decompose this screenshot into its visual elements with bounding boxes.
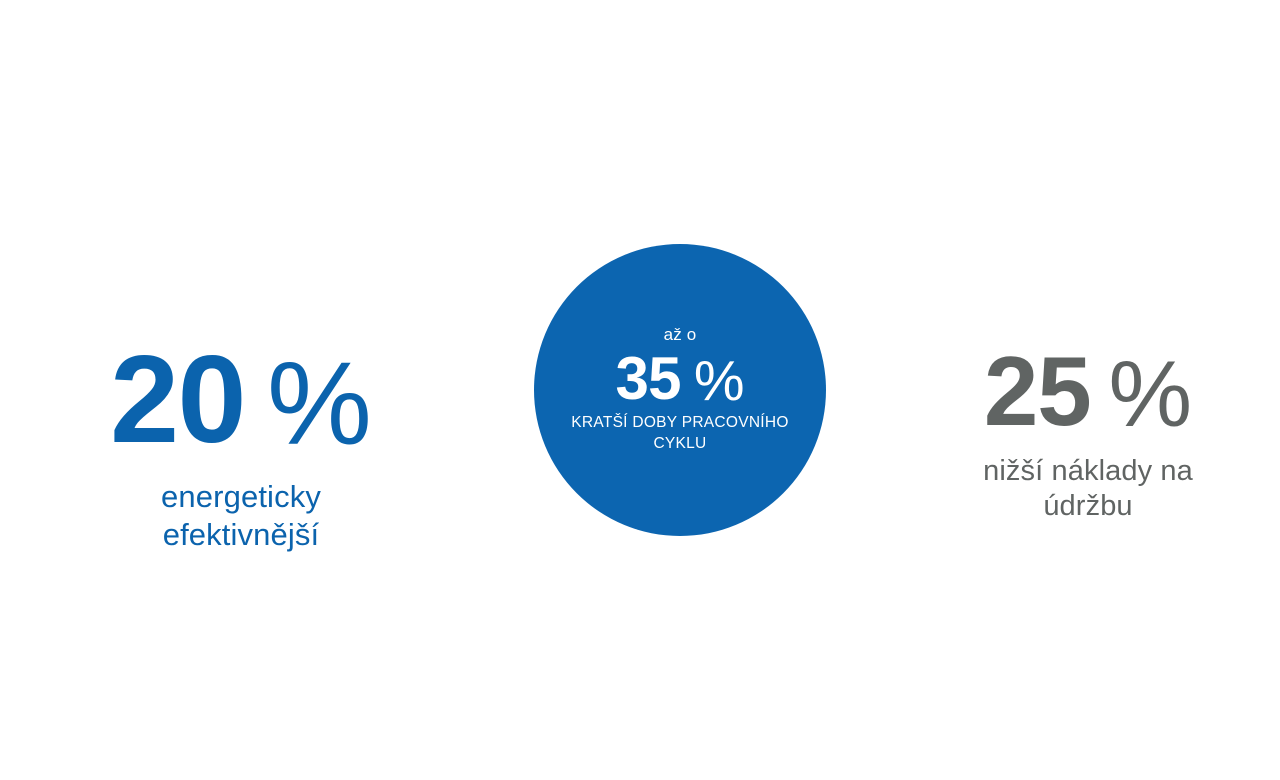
stat-value-left: 20 xyxy=(110,338,245,462)
stat-caption-center-line1: KRATŠÍ DOBY PRACOVNÍHO xyxy=(545,413,815,434)
stat-value-center: 35 xyxy=(616,349,681,409)
infographic-canvas: 20 % energeticky efektivnější až o 35 % … xyxy=(0,0,1280,780)
stat-caption-center: KRATŠÍ DOBY PRACOVNÍHO CYKLU xyxy=(545,413,815,455)
stat-caption-right-line2: údržbu xyxy=(910,489,1266,524)
stat-caption-right-line1: nižší náklady na xyxy=(910,454,1266,489)
stat-eyebrow-center: až o xyxy=(664,326,697,343)
stat-figure-left: 20 % xyxy=(60,338,422,462)
stat-block-maintenance-cost: 25 % nižší náklady na údržbu xyxy=(910,342,1266,525)
stat-caption-center-line2: CYKLU xyxy=(545,434,815,455)
percent-sign-right: % xyxy=(1109,347,1193,441)
stat-caption-left-line1: energeticky xyxy=(60,478,422,516)
stat-figure-center: 35 % xyxy=(616,349,745,409)
stat-caption-right: nižší náklady na údržbu xyxy=(910,454,1266,525)
percent-sign-center: % xyxy=(694,353,745,410)
stat-circle-cycle-time: až o 35 % KRATŠÍ DOBY PRACOVNÍHO CYKLU xyxy=(534,244,826,536)
stat-caption-left-line2: efektivnější xyxy=(60,516,422,554)
stat-value-right: 25 xyxy=(984,342,1091,440)
stat-figure-right: 25 % xyxy=(910,342,1266,440)
stat-caption-left: energeticky efektivnější xyxy=(60,478,422,554)
stat-block-energy-efficiency: 20 % energeticky efektivnější xyxy=(60,338,422,554)
percent-sign-left: % xyxy=(267,345,372,463)
